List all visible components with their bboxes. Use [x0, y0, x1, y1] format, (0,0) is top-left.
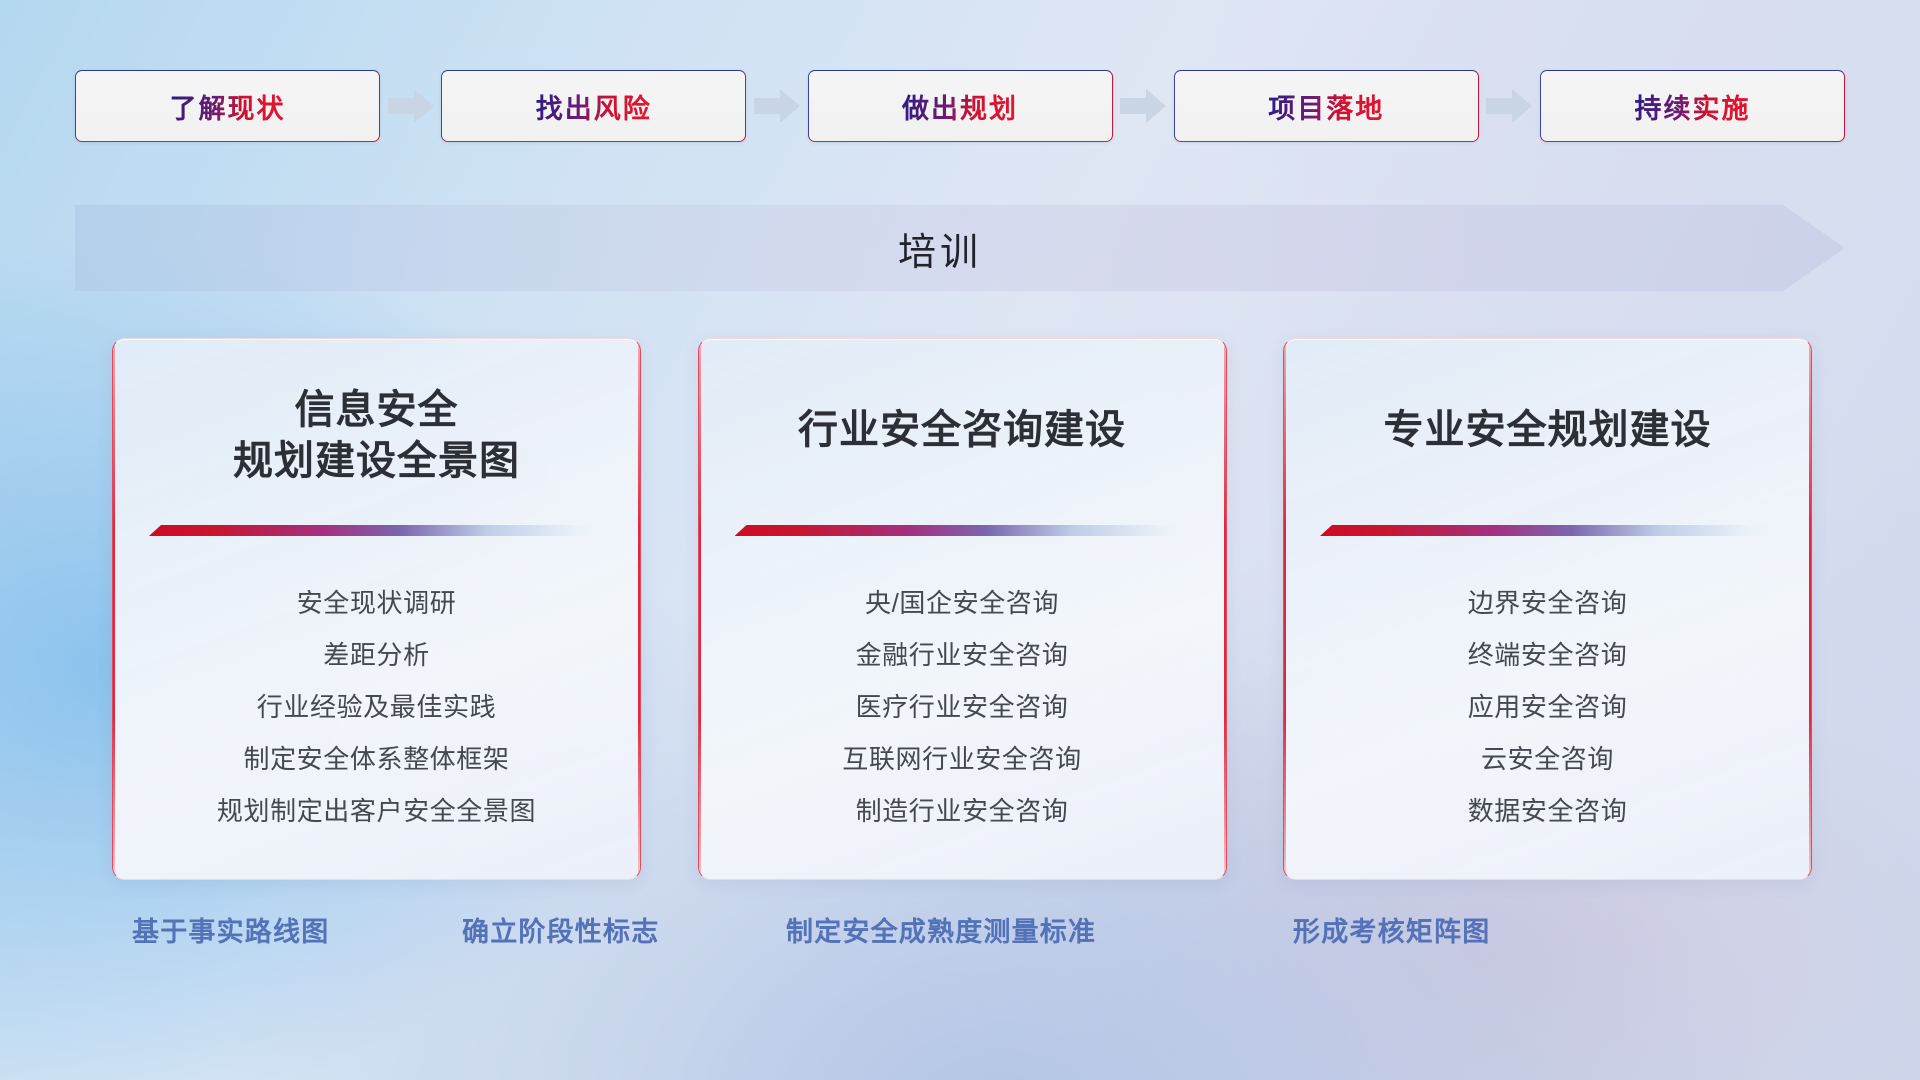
list-item: 医疗行业安全咨询: [719, 681, 1206, 733]
slide-canvas: 了解现状 找出风险 做出规划 项目落地: [0, 0, 1920, 1080]
list-item: 制造行业安全咨询: [719, 785, 1206, 837]
caption-2: 确立阶段性标志: [462, 910, 659, 949]
card-divider-gradient: [149, 525, 606, 536]
list-item: 央/国企安全咨询: [719, 577, 1206, 629]
arrow-right-icon: [754, 89, 800, 123]
training-banner: 培训: [75, 205, 1845, 291]
step-box-2[interactable]: 找出风险: [441, 70, 746, 142]
step-label: 做出规划: [902, 87, 1018, 126]
card-1[interactable]: 信息安全 规划建设全景图 安全现状调研 差距分析 行业经验及最佳实践 制定安全体…: [112, 338, 641, 880]
card-title: 专业安全规划建设: [1284, 405, 1811, 456]
card-divider-gradient: [1320, 525, 1777, 536]
list-item: 金融行业安全咨询: [719, 629, 1206, 681]
step-box-4[interactable]: 项目落地: [1174, 70, 1479, 142]
list-item: 制定安全体系整体框架: [133, 733, 620, 785]
card-divider: [735, 525, 1192, 536]
step-box-5[interactable]: 持续实施: [1540, 70, 1845, 142]
step-arrow-4: [1479, 89, 1540, 123]
arrow-right-icon: [388, 89, 434, 123]
list-item: 规划制定出客户安全全景图: [133, 785, 620, 837]
card-title: 行业安全咨询建设: [699, 405, 1226, 456]
card-divider-gradient: [735, 525, 1192, 536]
list-item: 云安全咨询: [1304, 733, 1791, 785]
card-item-list: 边界安全咨询 终端安全咨询 应用安全咨询 云安全咨询 数据安全咨询: [1304, 577, 1791, 837]
caption-3: 制定安全成熟度测量标准: [786, 910, 1096, 949]
step-arrow-2: [746, 89, 807, 123]
card-title: 信息安全 规划建设全景图: [113, 385, 640, 487]
card-divider: [1320, 525, 1777, 536]
list-item: 行业经验及最佳实践: [133, 681, 620, 733]
list-item: 安全现状调研: [133, 577, 620, 629]
list-item: 终端安全咨询: [1304, 629, 1791, 681]
card-2[interactable]: 行业安全咨询建设 央/国企安全咨询 金融行业安全咨询 医疗行业安全咨询 互联网行…: [698, 338, 1227, 880]
arrow-right-icon: [1486, 89, 1532, 123]
banner-title: 培训: [75, 205, 1845, 291]
card-item-list: 安全现状调研 差距分析 行业经验及最佳实践 制定安全体系整体框架 规划制定出客户…: [133, 577, 620, 837]
caption-4: 形成考核矩阵图: [1293, 910, 1490, 949]
caption-1: 基于事实路线图: [132, 910, 329, 949]
caption-row: 基于事实路线图 确立阶段性标志 制定安全成熟度测量标准 形成考核矩阵图: [0, 910, 1920, 960]
list-item: 差距分析: [133, 629, 620, 681]
step-box-3[interactable]: 做出规划: [808, 70, 1113, 142]
list-item: 数据安全咨询: [1304, 785, 1791, 837]
arrow-right-icon: [1120, 89, 1166, 123]
step-label: 项目落地: [1268, 87, 1384, 126]
step-label: 了解现状: [170, 87, 286, 126]
card-3[interactable]: 专业安全规划建设 边界安全咨询 终端安全咨询 应用安全咨询 云安全咨询 数据安全…: [1283, 338, 1812, 880]
step-box-1[interactable]: 了解现状: [75, 70, 380, 142]
step-label: 持续实施: [1635, 87, 1751, 126]
card-divider: [149, 525, 606, 536]
card-row: 信息安全 规划建设全景图 安全现状调研 差距分析 行业经验及最佳实践 制定安全体…: [112, 338, 1812, 880]
list-item: 应用安全咨询: [1304, 681, 1791, 733]
step-label: 找出风险: [536, 87, 652, 126]
list-item: 边界安全咨询: [1304, 577, 1791, 629]
card-item-list: 央/国企安全咨询 金融行业安全咨询 医疗行业安全咨询 互联网行业安全咨询 制造行…: [719, 577, 1206, 837]
process-step-row: 了解现状 找出风险 做出规划 项目落地: [75, 70, 1845, 142]
step-arrow-3: [1113, 89, 1174, 123]
list-item: 互联网行业安全咨询: [719, 733, 1206, 785]
step-arrow-1: [380, 89, 441, 123]
